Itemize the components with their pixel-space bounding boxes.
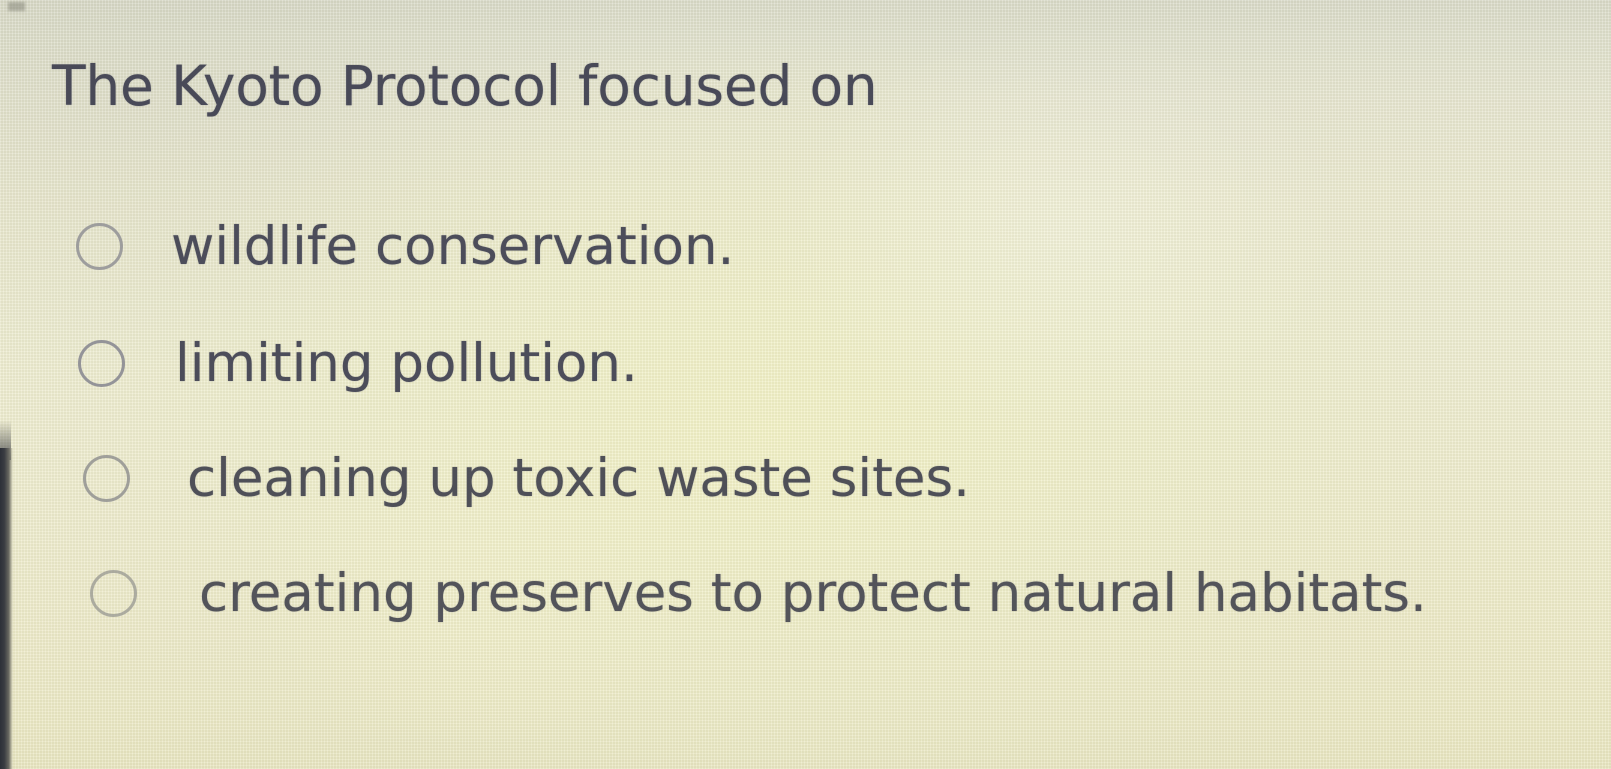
radio-button-icon-b[interactable] [78, 340, 125, 387]
question-content: The Kyoto Protocol focused on wildlife c… [0, 0, 1611, 769]
answer-option-a[interactable]: wildlife conservation. [76, 220, 734, 273]
radio-button-icon-c[interactable] [83, 455, 130, 502]
radio-button-icon-d[interactable] [90, 570, 137, 617]
screen-surface: The Kyoto Protocol focused on wildlife c… [0, 0, 1611, 769]
answer-option-d[interactable]: creating preserves to protect natural ha… [90, 567, 1427, 620]
radio-button-icon-a[interactable] [76, 223, 123, 270]
answer-option-b[interactable]: limiting pollution. [78, 337, 638, 390]
answer-option-b-label: limiting pollution. [175, 337, 638, 390]
answer-option-a-label: wildlife conservation. [171, 220, 734, 273]
question-title: The Kyoto Protocol focused on [52, 58, 878, 116]
answer-option-c[interactable]: cleaning up toxic waste sites. [83, 452, 970, 505]
answer-option-c-label: cleaning up toxic waste sites. [187, 452, 970, 505]
answer-option-d-label: creating preserves to protect natural ha… [199, 567, 1427, 620]
